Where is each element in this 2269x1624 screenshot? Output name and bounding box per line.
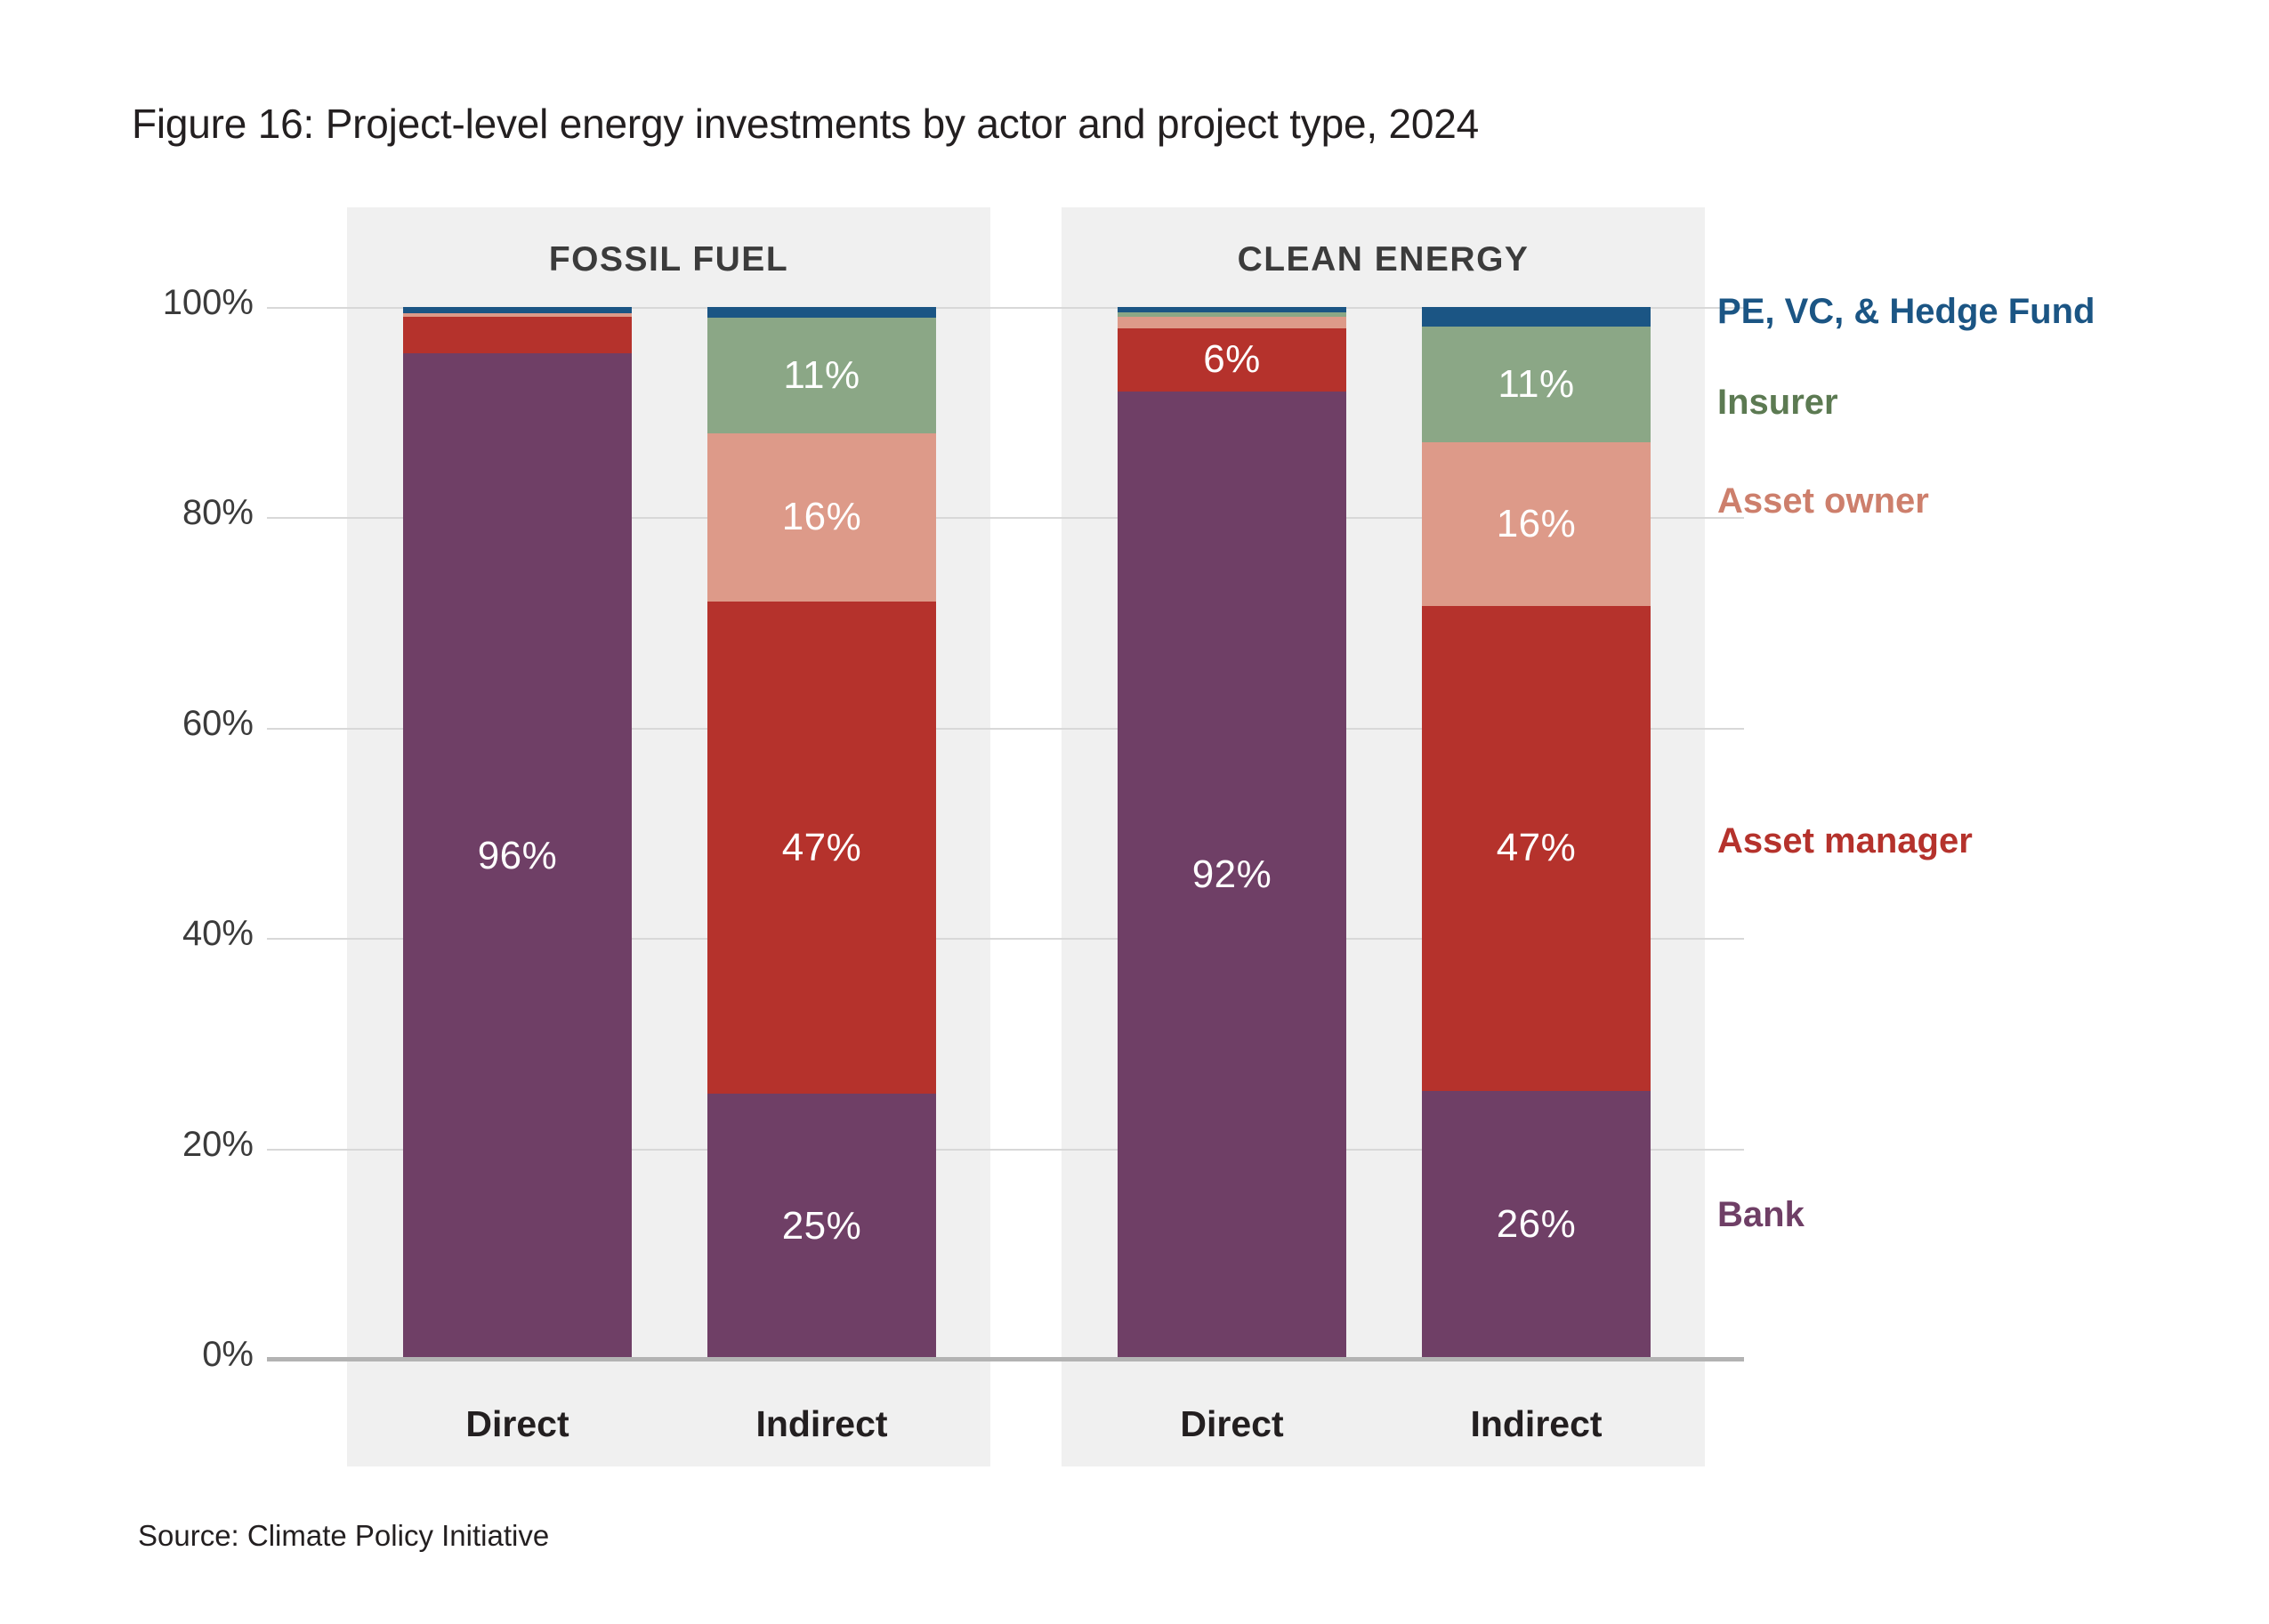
bar-segment-value-label: 11% [1498, 362, 1574, 407]
bar-fossil-indirect[interactable]: 11%16%47%25% [707, 307, 936, 1359]
legend-item-pe-vc-hedge-fund[interactable]: PE, VC, & Hedge Fund [1717, 294, 2095, 329]
bar-segment-value-label: 47% [1497, 826, 1577, 870]
y-axis-tick-label: 40% [98, 914, 254, 954]
x-axis-tick-label-clean-indirect: Indirect [1422, 1397, 1651, 1450]
figure-title: Figure 16: Project-level energy investme… [132, 100, 1479, 148]
source-note: Source: Climate Policy Initiative [138, 1519, 549, 1553]
bar-segment-insurer[interactable]: 11% [1422, 327, 1651, 442]
bar-segment-pe-vc-hedge-fund[interactable] [1422, 307, 1651, 327]
bar-segment-asset-manager[interactable]: 6% [1118, 328, 1346, 392]
bar-segment-value-label: 16% [782, 495, 862, 539]
y-axis-tick-label: 60% [98, 704, 254, 744]
bar-segment-value-label: 26% [1497, 1202, 1577, 1247]
plot-area: 96%11%16%47%25%6%92%11%16%47%26% [267, 307, 1744, 1359]
bar-clean-direct[interactable]: 6%92% [1118, 307, 1346, 1359]
bar-segment-bank[interactable]: 26% [1422, 1091, 1651, 1359]
y-axis-tick-label: 20% [98, 1125, 254, 1165]
x-axis-tick-label-fossil-direct: Direct [403, 1397, 632, 1450]
legend-item-asset-manager[interactable]: Asset manager [1717, 823, 1973, 859]
bar-segment-value-label: 25% [782, 1204, 862, 1248]
y-axis-tick-label: 80% [98, 493, 254, 533]
y-axis-tick-label: 0% [98, 1335, 254, 1375]
legend-item-asset-owner[interactable]: Asset owner [1717, 483, 1929, 519]
bar-segment-asset-owner[interactable] [1118, 317, 1346, 328]
x-axis-tick-label-fossil-indirect: Indirect [707, 1397, 936, 1450]
bar-segment-bank[interactable]: 25% [707, 1094, 936, 1359]
bar-segment-asset-manager[interactable]: 47% [707, 602, 936, 1094]
x-axis-baseline [267, 1357, 1744, 1361]
bar-segment-pe-vc-hedge-fund[interactable] [707, 307, 936, 318]
figure-container: Figure 16: Project-level energy investme… [0, 0, 2269, 1624]
legend-item-bank[interactable]: Bank [1717, 1197, 1805, 1232]
bar-segment-value-label: 16% [1497, 502, 1577, 546]
bar-segment-value-label: 11% [783, 353, 860, 398]
bar-segment-bank[interactable]: 92% [1118, 392, 1346, 1359]
panel-title-clean-energy: CLEAN ENERGY [1062, 233, 1705, 287]
x-axis-tick-label-clean-direct: Direct [1118, 1397, 1346, 1450]
bar-segment-value-label: 92% [1192, 852, 1272, 897]
bar-clean-indirect[interactable]: 11%16%47%26% [1422, 307, 1651, 1359]
bar-segment-value-label: 47% [782, 826, 862, 870]
y-axis-tick-label: 100% [98, 283, 254, 323]
bar-fossil-direct[interactable]: 96% [403, 307, 632, 1359]
bar-segment-asset-owner[interactable]: 16% [707, 433, 936, 602]
bar-segment-asset-owner[interactable]: 16% [1422, 442, 1651, 605]
panel-title-fossil-fuel: FOSSIL FUEL [347, 233, 990, 287]
bar-segment-asset-manager[interactable]: 47% [1422, 606, 1651, 1091]
bar-segment-asset-manager[interactable] [403, 317, 632, 353]
legend-item-insurer[interactable]: Insurer [1717, 384, 1838, 420]
bar-segment-pe-vc-hedge-fund[interactable] [403, 307, 632, 313]
bar-segment-bank[interactable]: 96% [403, 353, 632, 1359]
bar-segment-insurer[interactable]: 11% [707, 318, 936, 433]
bar-segment-value-label: 96% [478, 834, 558, 878]
bar-segment-value-label: 6% [1203, 337, 1261, 382]
